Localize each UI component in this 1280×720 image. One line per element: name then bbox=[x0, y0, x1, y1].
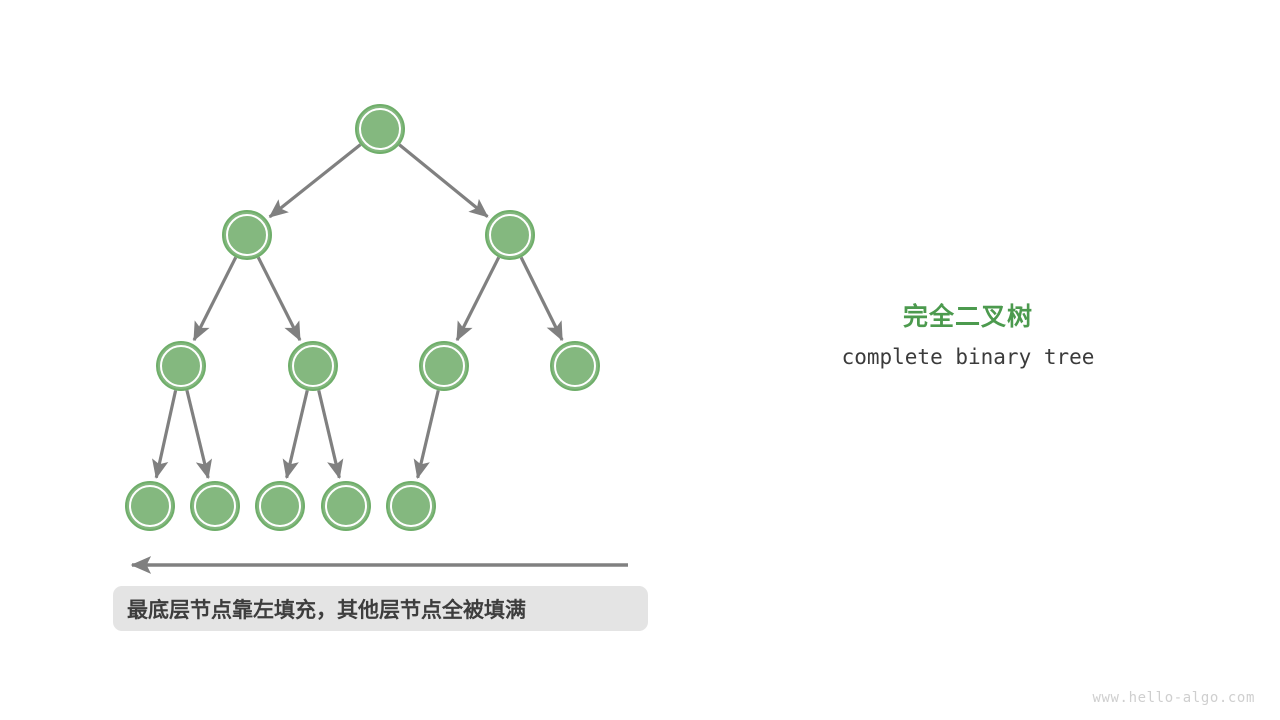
tree-edge bbox=[319, 390, 340, 477]
tree-edge bbox=[194, 257, 236, 340]
tree-edge bbox=[187, 390, 208, 478]
caption-text: 最底层节点靠左填充，其他层节点全被填满 bbox=[127, 594, 526, 624]
tree-edge bbox=[270, 145, 361, 217]
tree-edge bbox=[287, 390, 308, 477]
figure-canvas: 完全二叉树 complete binary tree 最底层节点靠左填充，其他层… bbox=[0, 0, 1280, 720]
tree-node-inner-circle bbox=[130, 486, 170, 526]
tree-node-inner-circle bbox=[360, 109, 400, 149]
tree-edge bbox=[258, 257, 300, 340]
tree-node-inner-circle bbox=[227, 215, 267, 255]
tree-node bbox=[157, 342, 205, 390]
tree-node-inner-circle bbox=[555, 346, 595, 386]
tree-edge-layer bbox=[156, 145, 562, 478]
figure-title: 完全二叉树 bbox=[768, 297, 1168, 333]
tree-node-layer bbox=[126, 105, 599, 530]
tree-edge bbox=[418, 390, 439, 477]
tree-node-inner-circle bbox=[195, 486, 235, 526]
tree-node bbox=[126, 482, 174, 530]
tree-node-inner-circle bbox=[161, 346, 201, 386]
tree-node bbox=[551, 342, 599, 390]
tree-node bbox=[191, 482, 239, 530]
tree-node bbox=[486, 211, 534, 259]
tree-edge bbox=[156, 390, 175, 477]
tree-node bbox=[289, 342, 337, 390]
tree-node-inner-circle bbox=[293, 346, 333, 386]
tree-node-inner-circle bbox=[326, 486, 366, 526]
tree-node bbox=[420, 342, 468, 390]
tree-node bbox=[387, 482, 435, 530]
tree-node bbox=[223, 211, 271, 259]
tree-edge bbox=[521, 257, 562, 340]
tree-node-inner-circle bbox=[260, 486, 300, 526]
tree-edge bbox=[399, 145, 487, 217]
caption-box: 最底层节点靠左填充，其他层节点全被填满 bbox=[113, 586, 648, 631]
tree-edge bbox=[457, 257, 499, 340]
tree-node-inner-circle bbox=[424, 346, 464, 386]
tree-node bbox=[256, 482, 304, 530]
tree-node-inner-circle bbox=[391, 486, 431, 526]
tree-node bbox=[356, 105, 404, 153]
tree-node bbox=[322, 482, 370, 530]
watermark: www.hello-algo.com bbox=[1092, 690, 1255, 706]
tree-node-inner-circle bbox=[490, 215, 530, 255]
figure-subtitle: complete binary tree bbox=[768, 345, 1168, 369]
